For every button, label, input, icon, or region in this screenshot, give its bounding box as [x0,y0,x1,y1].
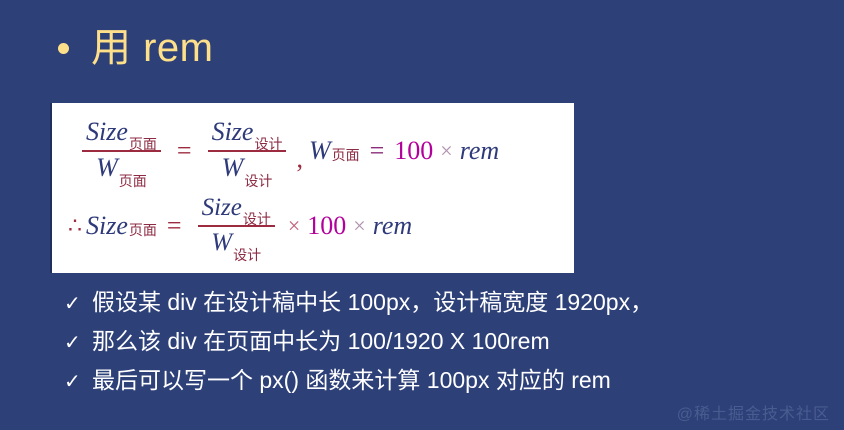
unit-rem: rem [373,211,412,241]
fraction-numerator: Size页面 [82,117,161,149]
formula-comma: , [296,144,303,174]
slide-canvas: 用 rem Size页面 W页面 = Size设计 W设计 , W页面 = 10… [0,0,844,430]
subscript-design: 设计 [243,211,271,227]
page-title-label: 用 rem [91,26,214,70]
var-size: Size [86,117,128,146]
fraction-denominator: W设计 [218,153,277,185]
equals-sign: = [177,136,192,166]
bullet-list: ✓ 假设某 div 在设计稿中长 100px，设计稿宽度 1920px， ✓ 那… [64,284,836,401]
fraction-numerator: Size设计 [208,117,287,149]
list-item: ✓ 最后可以写一个 px() 函数来计算 100px 对应的 rem [64,362,836,401]
subscript-page: 页面 [119,173,147,189]
list-item-label: 最后可以写一个 px() 函数来计算 100px 对应的 rem [92,362,611,399]
fraction-design: Size设计 W设计 [198,193,275,260]
list-item: ✓ 那么该 div 在页面中长为 100/1920 X 100rem [64,323,836,362]
therefore-icon: ∴ [68,213,82,239]
var-w: W [96,153,118,182]
page-title: 用 rem [58,26,214,70]
fraction-denominator: W设计 [207,228,265,259]
check-icon: ✓ [64,286,92,323]
watermark: @稀土掘金技术社区 [677,400,830,424]
var-size: Size [202,194,242,221]
fraction-page: Size页面 W页面 [82,117,161,186]
subscript-design: 设计 [233,247,261,263]
number-100: 100 [394,136,433,166]
list-item: ✓ 假设某 div 在设计稿中长 100px，设计稿宽度 1920px， [64,284,836,323]
subscript-design: 设计 [244,173,272,189]
times-operator: × [353,213,365,239]
subscript-page: 页面 [129,220,157,240]
formula-card: Size页面 W页面 = Size设计 W设计 , W页面 = 100 × re… [50,103,574,273]
times-operator: × [288,213,300,239]
equals-sign: = [370,136,385,166]
check-icon: ✓ [64,364,92,401]
var-w-page: W [309,136,331,166]
var-w: W [211,229,232,256]
list-item-label: 那么该 div 在页面中长为 100/1920 X 100rem [92,323,550,360]
subscript-page: 页面 [332,145,360,165]
unit-rem: rem [460,136,499,166]
number-100: 100 [307,211,346,241]
formula-line-2: ∴ Size页面 = Size设计 W设计 × 100 × rem [62,189,574,263]
fraction-design: Size设计 W设计 [208,117,287,186]
subscript-design: 设计 [254,136,282,152]
times-operator: × [440,138,452,164]
fraction-numerator: Size设计 [198,193,275,224]
bullet-dot-icon [58,43,69,54]
var-w: W [222,153,244,182]
equals-sign: = [167,211,182,241]
formula-line-1: Size页面 W页面 = Size设计 W设计 , W页面 = 100 × re… [62,113,574,189]
var-size: Size [86,211,128,241]
list-item-label: 假设某 div 在设计稿中长 100px，设计稿宽度 1920px， [92,284,653,321]
fraction-denominator: W页面 [92,153,151,185]
check-icon: ✓ [64,325,92,362]
var-size: Size [212,117,254,146]
subscript-page: 页面 [129,136,157,152]
